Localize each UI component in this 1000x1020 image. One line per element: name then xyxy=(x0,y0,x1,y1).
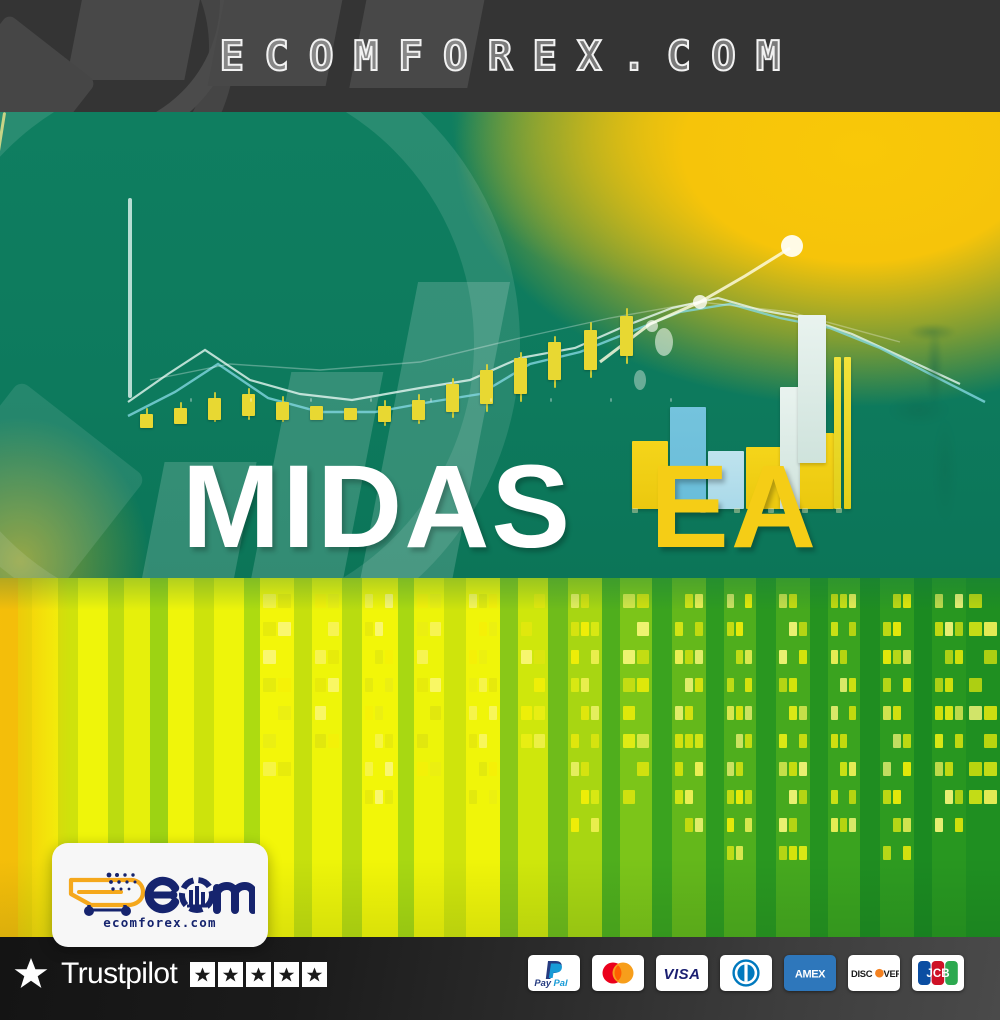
trustpilot-star-box xyxy=(246,962,271,987)
trustpilot-star-box xyxy=(274,962,299,987)
candle-body xyxy=(242,394,255,416)
logo-mark xyxy=(65,864,255,916)
candle-body xyxy=(310,406,323,420)
candle-body xyxy=(514,358,527,394)
svg-text:JCB: JCB xyxy=(926,967,949,980)
footer-bar: Trustpilot xyxy=(0,937,1000,1020)
svg-text:Pay: Pay xyxy=(534,977,551,988)
logo-letter-e xyxy=(149,881,178,909)
product-name: MIDAS xyxy=(182,448,572,566)
svg-text:VISA: VISA xyxy=(663,966,700,983)
mastercard-icon[interactable] xyxy=(592,955,644,991)
logo-letter-m xyxy=(217,886,253,910)
candle-body xyxy=(174,408,187,424)
svg-text:DISC: DISC xyxy=(851,968,873,979)
candle-body xyxy=(344,408,357,420)
site-header: ECOMFOREX.COM xyxy=(0,0,1000,112)
product-suffix: EA xyxy=(650,448,818,566)
hero-section: MIDAS EA xyxy=(0,112,1000,937)
svg-text:VER: VER xyxy=(884,968,900,979)
trustpilot-stars xyxy=(190,962,327,987)
svg-text:AMEX: AMEX xyxy=(795,968,826,980)
trustpilot-rating[interactable]: Trustpilot xyxy=(14,957,327,991)
discover-icon[interactable]: DISC VER xyxy=(848,955,900,991)
candle-body xyxy=(446,384,459,412)
promo-banner: ECOMFOREX.COM xyxy=(0,0,1000,1020)
candle-body xyxy=(140,414,153,428)
site-title: ECOMFOREX.COM xyxy=(0,0,1000,112)
logo-url-text: ecomforex.com xyxy=(103,915,216,930)
shopping-cart-icon xyxy=(71,873,143,916)
candle-body xyxy=(584,330,597,370)
candle-body xyxy=(276,402,289,420)
candle-body xyxy=(208,398,221,420)
logo-letter-o-chart xyxy=(182,880,212,910)
svg-text:Pal: Pal xyxy=(554,977,568,988)
visa-icon[interactable]: VISA xyxy=(656,955,708,991)
trustpilot-star-box xyxy=(302,962,327,987)
page-title: MIDAS EA xyxy=(0,437,1000,577)
candle-body xyxy=(412,400,425,420)
candle-body xyxy=(548,342,561,380)
trustpilot-label: Trustpilot xyxy=(61,957,177,991)
amex-icon[interactable]: AMEX xyxy=(784,955,836,991)
candle-body xyxy=(378,406,391,422)
trustpilot-star-box xyxy=(218,962,243,987)
diners-club-icon[interactable] xyxy=(720,955,772,991)
paypal-icon[interactable]: Pay Pal xyxy=(528,955,580,991)
payment-methods: Pay Pal VISA xyxy=(528,955,964,991)
trustpilot-star-icon xyxy=(14,957,48,991)
trustpilot-star-box xyxy=(190,962,215,987)
ecom-logo-icon xyxy=(65,864,255,916)
brand-logo-card[interactable]: ecomforex.com xyxy=(52,843,268,947)
jcb-icon[interactable]: JCB xyxy=(912,955,964,991)
